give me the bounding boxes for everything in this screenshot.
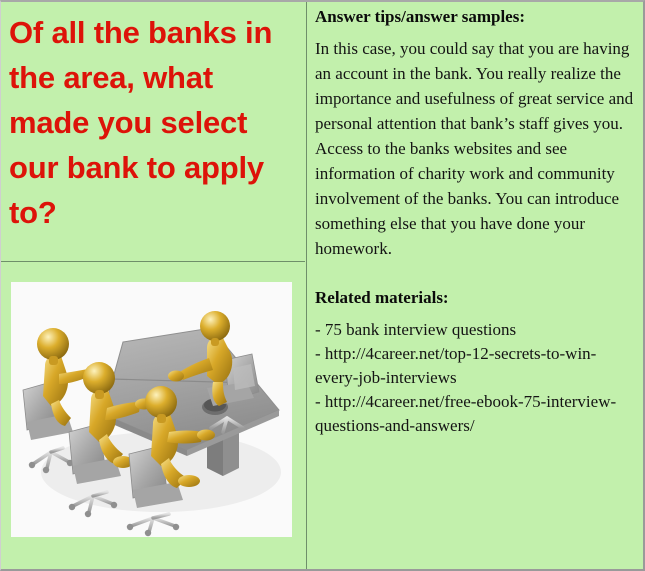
meeting-clipart-svg — [11, 282, 292, 537]
answer-tips-heading: Answer tips/answer samples: — [315, 7, 634, 27]
right-column: Answer tips/answer samples: In this case… — [308, 2, 642, 569]
list-item: - 75 bank interview questions — [315, 318, 634, 342]
meeting-clipart — [11, 282, 292, 537]
left-column: Of all the banks in the area, what made … — [1, 2, 305, 569]
illustration-cell — [1, 263, 305, 569]
answer-body-text: In this case, you could say that you are… — [315, 36, 634, 261]
list-item[interactable]: - http://4career.net/top-12-secrets-to-w… — [315, 342, 634, 390]
question-cell: Of all the banks in the area, what made … — [1, 2, 305, 262]
column-divider — [306, 2, 307, 569]
question-title: Of all the banks in the area, what made … — [9, 10, 299, 235]
list-item[interactable]: - http://4career.net/free-ebook-75-inter… — [315, 390, 634, 438]
related-materials-list: - 75 bank interview questions - http://4… — [315, 318, 634, 438]
slide-root: Of all the banks in the area, what made … — [0, 0, 645, 571]
related-materials-heading: Related materials: — [315, 288, 634, 308]
